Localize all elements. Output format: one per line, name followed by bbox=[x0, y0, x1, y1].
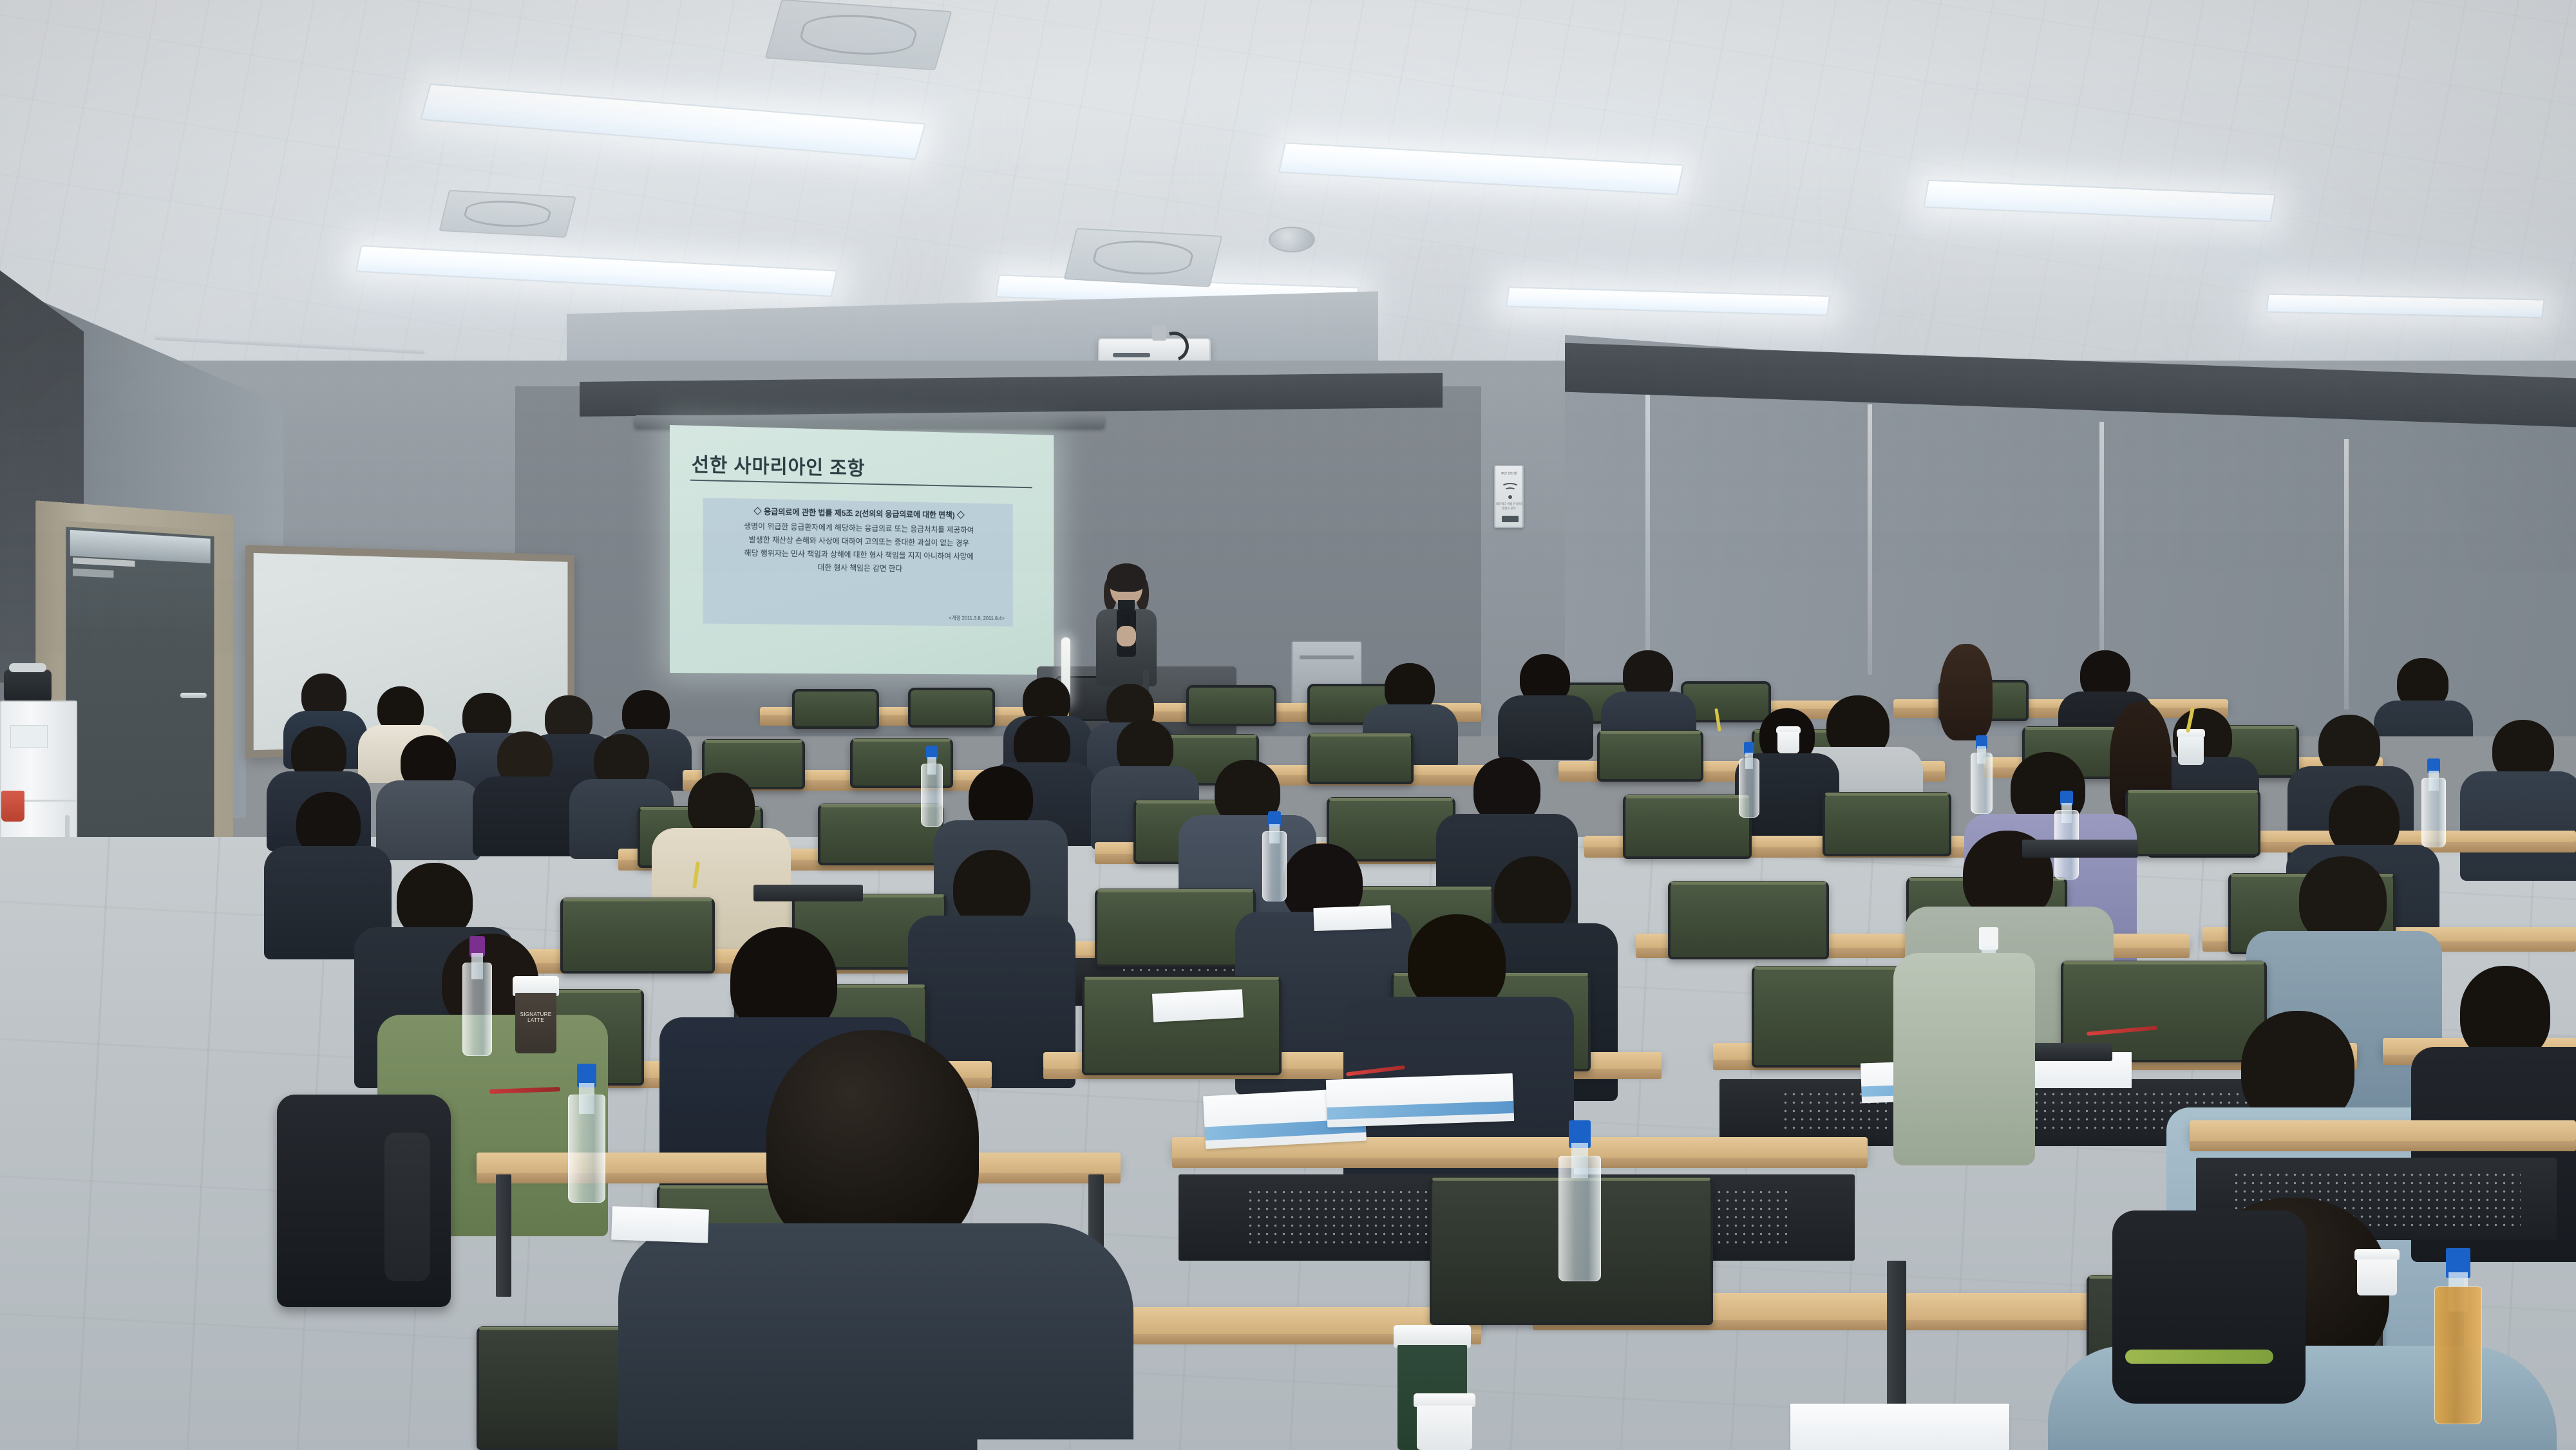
wall-panel-seam bbox=[1868, 404, 1872, 675]
chair bbox=[1668, 881, 1829, 959]
chair-rim bbox=[1671, 881, 1826, 885]
handout bbox=[1152, 989, 1244, 1022]
ceiling-vent-icon bbox=[765, 0, 952, 70]
water-bottle bbox=[1262, 811, 1287, 901]
attendee bbox=[2467, 720, 2576, 881]
jacket-on-chair bbox=[1893, 953, 2035, 1165]
chair-rim bbox=[2128, 790, 2258, 793]
attendee-torso bbox=[2460, 771, 2576, 881]
water-bottle bbox=[921, 746, 943, 827]
slide-law-heading: ◇ 응급의료에 관한 법률 제5조 2(선의의 응급의료에 대한 면책) ◇ bbox=[712, 504, 1004, 521]
wall-panel-seam bbox=[2344, 439, 2349, 710]
door-handle[interactable] bbox=[180, 693, 207, 698]
attendee-torso bbox=[473, 777, 577, 856]
coffee-cup-brand-label: SIGNATURE LATTE bbox=[516, 1012, 555, 1024]
wifi-sign-title: 무선 인터넷 bbox=[1495, 471, 1522, 476]
small-paper-cup bbox=[2357, 1249, 2397, 1295]
chair-rim bbox=[1825, 793, 1949, 796]
wifi-info-sign: 무선 인터넷 네트워크 이름 안내 비밀번호 문의 bbox=[1494, 465, 1524, 528]
attendee bbox=[1501, 654, 1591, 757]
tea-bottle bbox=[2434, 1248, 2482, 1424]
wifi-icon-dot bbox=[1508, 495, 1512, 499]
chair-rim bbox=[2063, 961, 2264, 965]
red-container bbox=[1, 791, 24, 822]
slide-citation: <개정 2011.3.8, 2011.8.4> bbox=[949, 614, 1005, 622]
ceiling-vent-icon bbox=[439, 190, 576, 238]
attendee-foreground bbox=[638, 1030, 1114, 1450]
chair bbox=[1307, 733, 1414, 784]
chair-rim bbox=[1310, 733, 1411, 737]
handout bbox=[611, 1206, 709, 1243]
small-paper-cup bbox=[1417, 1393, 1472, 1450]
wifi-qr-code-icon bbox=[1502, 516, 1519, 522]
bottle-body bbox=[462, 963, 492, 1056]
bottle-body bbox=[1739, 758, 1759, 818]
chair-rim bbox=[853, 739, 951, 742]
water-bottle bbox=[2054, 791, 2079, 880]
refrigerator-note bbox=[10, 725, 48, 748]
projection-screen: 선한 사마리아인 조항 ◇ 응급의료에 관한 법률 제5조 2(선의의 응급의료… bbox=[670, 425, 1054, 675]
water-bottle bbox=[1971, 735, 1993, 814]
phone bbox=[2022, 1043, 2112, 1061]
jacket-on-chair bbox=[2112, 1210, 2306, 1404]
chair-green-trim bbox=[2125, 1350, 2273, 1364]
water-bottle bbox=[1739, 742, 1759, 818]
chair-rim bbox=[1084, 977, 1279, 980]
attendee-torso bbox=[1498, 695, 1593, 760]
handbook bbox=[1326, 1073, 1514, 1127]
handout bbox=[1790, 1404, 2009, 1450]
chair bbox=[1095, 889, 1256, 967]
water-bottle bbox=[568, 1064, 605, 1203]
bottle-body bbox=[2421, 778, 2446, 847]
chair bbox=[1597, 730, 1703, 782]
ceiling-vent-icon bbox=[1064, 228, 1223, 287]
bottle-body bbox=[1262, 831, 1287, 901]
slide-title: 선한 사마리아인 조항 bbox=[692, 449, 866, 481]
chair-rim bbox=[705, 740, 802, 743]
bottle-body bbox=[1971, 753, 1993, 814]
chair-rim bbox=[1600, 731, 1701, 734]
ceiling-speaker-icon bbox=[1269, 227, 1315, 252]
cup-rim bbox=[1394, 1325, 1472, 1348]
backpack bbox=[277, 1095, 451, 1307]
cup-body bbox=[2178, 737, 2204, 765]
small-paper-cup bbox=[1777, 726, 1799, 753]
bottle-body bbox=[2434, 1286, 2482, 1424]
water-bottle bbox=[462, 936, 492, 1056]
laptop bbox=[753, 885, 863, 901]
bottle-body bbox=[921, 764, 943, 827]
presenter-hands bbox=[1117, 626, 1136, 646]
water-bottle bbox=[1558, 1120, 1601, 1281]
presenter-hair bbox=[1107, 563, 1146, 592]
presenter bbox=[1088, 567, 1166, 686]
slide-body-box: ◇ 응급의료에 관한 법률 제5조 2(선의의 응급의료에 대한 면책) ◇ 생… bbox=[703, 498, 1013, 626]
chair-rim bbox=[1097, 889, 1253, 892]
chair-rim bbox=[563, 898, 712, 901]
chair bbox=[1623, 795, 1752, 859]
desk bbox=[2190, 1120, 2576, 1142]
chair bbox=[792, 689, 879, 729]
door-panel bbox=[60, 520, 220, 879]
desk-leg bbox=[496, 1174, 511, 1297]
wall-panel-seam bbox=[1645, 386, 1650, 663]
projector bbox=[1098, 338, 1211, 364]
attendee-torso bbox=[618, 1223, 1133, 1450]
bottle-body bbox=[568, 1095, 605, 1203]
attendee-torso bbox=[376, 780, 480, 860]
bottle-body bbox=[1558, 1156, 1601, 1281]
water-bottle bbox=[2421, 758, 2446, 847]
slide-title-rule bbox=[690, 480, 1032, 489]
wifi-icon-arc-inner bbox=[1504, 487, 1516, 493]
attendee bbox=[477, 731, 573, 854]
attendee-head bbox=[1940, 644, 1993, 740]
chair bbox=[908, 688, 995, 728]
door-sign-secondary bbox=[73, 569, 113, 578]
laptop bbox=[2022, 840, 2138, 858]
cup-rim bbox=[1414, 1393, 1475, 1407]
chair-rim bbox=[1329, 798, 1453, 801]
classroom-photo: 무선 인터넷 네트워크 이름 안내 비밀번호 문의 선한 사마리아인 조항 ◇ … bbox=[0, 0, 2576, 1450]
cup-rim bbox=[2354, 1249, 2399, 1260]
chair-rim bbox=[1625, 795, 1749, 798]
chair bbox=[2125, 789, 2260, 856]
iced-drink-cup bbox=[2178, 729, 2204, 765]
chair bbox=[1186, 685, 1276, 726]
cup-body bbox=[1417, 1406, 1472, 1450]
handout bbox=[1313, 905, 1391, 931]
attendee bbox=[380, 735, 477, 858]
cup-body bbox=[2357, 1259, 2397, 1295]
wifi-sign-body: 네트워크 이름 안내 비밀번호 문의 bbox=[1495, 502, 1522, 511]
attendee-long-hair bbox=[1919, 644, 2016, 760]
cup-body bbox=[1777, 732, 1799, 753]
chair-green-trim bbox=[489, 1365, 612, 1378]
desk-leg bbox=[1887, 1261, 1906, 1409]
attendee-head bbox=[766, 1030, 979, 1256]
